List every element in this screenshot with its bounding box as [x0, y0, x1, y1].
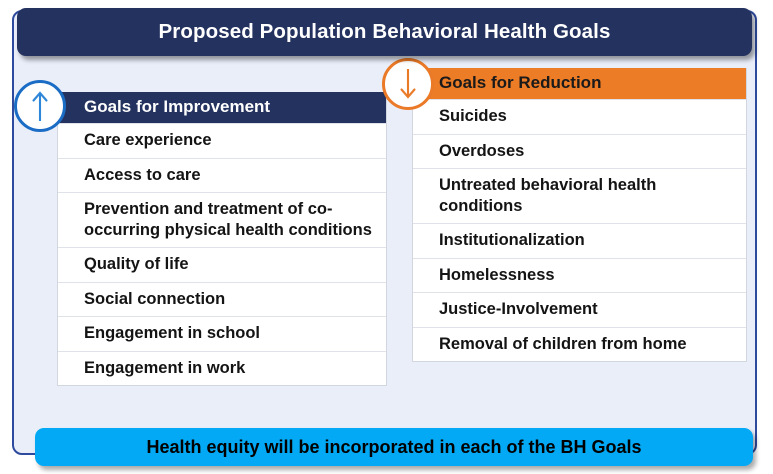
health-equity-banner-text: Health equity will be incorporated in ea… — [146, 437, 641, 458]
goals-for-reduction-table: Goals for Reduction Suicides Overdoses U… — [412, 68, 747, 362]
goals-for-reduction-header: Goals for Reduction — [413, 68, 746, 99]
list-item: Care experience — [58, 123, 386, 157]
list-item: Justice-Involvement — [413, 292, 746, 326]
slide-canvas: Proposed Population Behavioral Health Go… — [0, 0, 773, 474]
list-item: Homelessness — [413, 258, 746, 292]
list-item: Untreated behavioral health conditions — [413, 168, 746, 223]
health-equity-banner: Health equity will be incorporated in ea… — [35, 428, 753, 466]
list-item: Removal of children from home — [413, 327, 746, 361]
arrow-up-icon — [31, 90, 49, 122]
page-title: Proposed Population Behavioral Health Go… — [159, 20, 611, 44]
list-item: Access to care — [58, 158, 386, 192]
list-item: Prevention and treatment of co-occurring… — [58, 192, 386, 247]
list-item: Institutionalization — [413, 223, 746, 257]
list-item: Engagement in school — [58, 316, 386, 350]
goals-columns: Goals for Improvement Care experience Ac… — [12, 58, 757, 428]
arrow-up-badge — [14, 80, 66, 132]
list-item: Engagement in work — [58, 351, 386, 385]
arrow-down-badge — [382, 58, 434, 110]
list-item: Overdoses — [413, 134, 746, 168]
list-item: Quality of life — [58, 247, 386, 281]
list-item: Social connection — [58, 282, 386, 316]
goals-for-improvement-table: Goals for Improvement Care experience Ac… — [57, 92, 387, 386]
slide-title-bar: Proposed Population Behavioral Health Go… — [17, 8, 752, 56]
list-item: Suicides — [413, 99, 746, 133]
goals-for-improvement-header: Goals for Improvement — [58, 92, 386, 123]
arrow-down-icon — [399, 68, 417, 100]
